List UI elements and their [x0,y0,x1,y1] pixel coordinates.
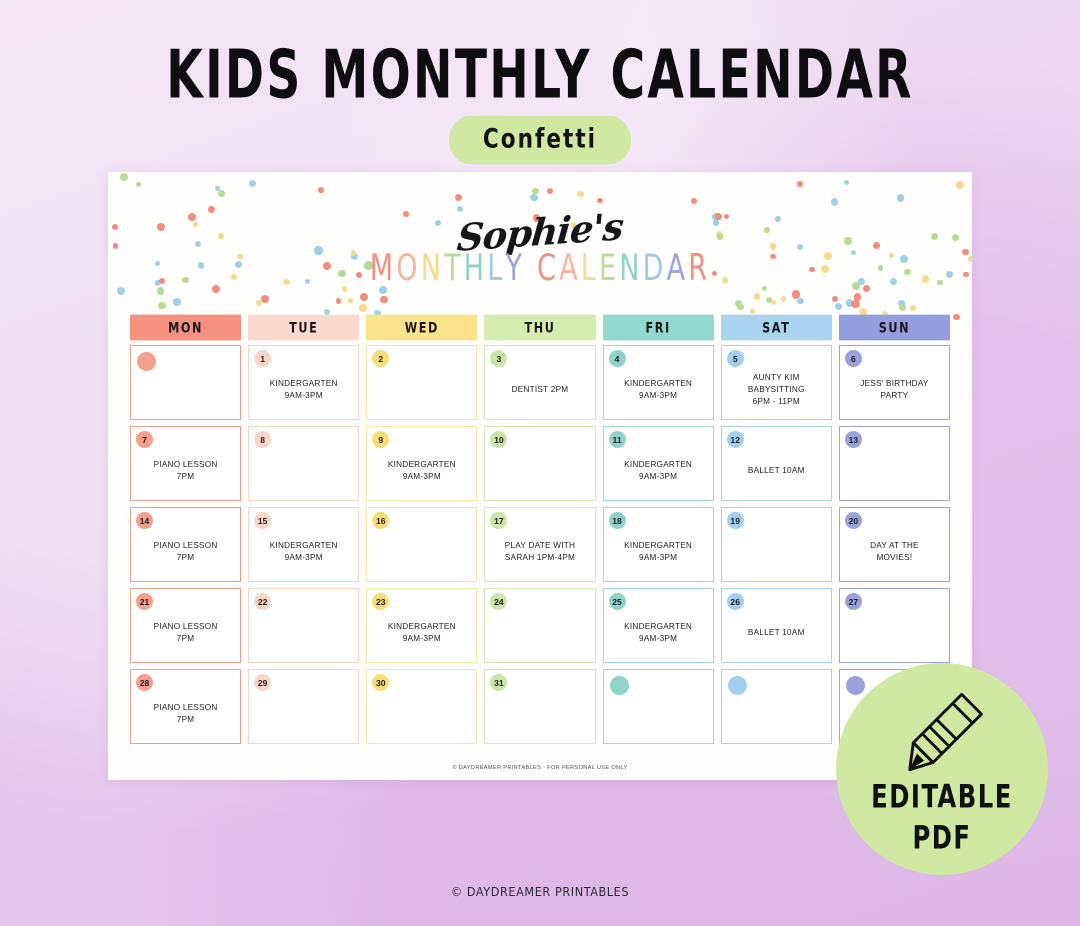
day-header-thu: THU [484,315,595,341]
day-number-chip: 3 [490,350,507,367]
wordmark-letter: T [444,251,464,288]
wordmark-letter: C [537,251,559,288]
subtitle-badge: Confetti [449,116,631,164]
wordmark-letter: O [396,251,420,288]
day-number-chip: 30 [372,674,389,691]
card-header: Sophie's MONTHLY CALENDAR [108,172,972,314]
day-cell[interactable] [130,345,241,420]
day-number-chip: 8 [254,431,271,448]
day-number-chip: 21 [136,593,153,610]
day-event-text[interactable]: KINDERGARTEN9AM-3PM [388,459,456,483]
day-event-text[interactable]: BALLET 10AM [748,627,805,639]
day-cell[interactable]: 30 [366,669,477,744]
day-number-chip: 7 [136,431,153,448]
week-row: 14PIANO LESSON7PM15KINDERGARTEN9AM-3PM16… [108,507,972,582]
headline-area: KIDS MONTHLY CALENDAR Confetti [0,42,1080,162]
wordmark-letter: A [559,251,581,288]
day-cell[interactable]: 18KINDERGARTEN9AM-3PM [603,507,714,582]
day-event-text[interactable]: AUNTY KIMBABYSITTING6PM - 11PM [748,372,805,408]
day-event-text[interactable]: BALLET 10AM [748,465,805,477]
day-event-text[interactable]: KINDERGARTEN9AM-3PM [624,540,692,564]
day-cell[interactable]: 7PIANO LESSON7PM [130,426,241,501]
day-number-chip: 19 [727,512,744,529]
bottom-credit: © DAYDREAMER PRINTABLES [0,884,1080,899]
day-cell[interactable]: 13 [839,426,950,501]
day-event-text[interactable]: KINDERGARTEN9AM-3PM [624,621,692,645]
day-event-text[interactable]: PIANO LESSON7PM [154,540,218,564]
day-event-text[interactable]: PIANO LESSON7PM [154,459,218,483]
week-row: 21PIANO LESSON7PM2223KINDERGARTEN9AM-3PM… [108,588,972,663]
day-number-chip: 16 [372,512,389,529]
day-event-text[interactable]: KINDERGARTEN9AM-3PM [624,459,692,483]
day-cell[interactable]: 29 [248,669,359,744]
calendar-card: Sophie's MONTHLY CALENDAR MONTUEWEDTHUFR… [108,172,972,780]
day-number-chip: 25 [609,593,626,610]
day-header-mon: MON [130,315,241,341]
day-number-chip: 28 [136,674,153,691]
day-header-fri: FRI [603,315,714,341]
day-number-chip: 4 [609,350,626,367]
pencil-icon [896,689,988,775]
day-number-chip [728,676,747,695]
day-event-text[interactable]: PIANO LESSON7PM [154,702,218,726]
wordmark-letter: D [643,251,667,288]
day-number-chip: 6 [845,350,862,367]
wordmark-letter: L [581,251,599,288]
wordmark-letter: E [599,251,619,288]
day-number-chip: 31 [490,674,507,691]
day-cell[interactable]: 28PIANO LESSON7PM [130,669,241,744]
day-event-text[interactable]: DAY AT THEMOVIES! [870,540,919,564]
day-cell[interactable]: 5AUNTY KIMBABYSITTING6PM - 11PM [721,345,832,420]
day-cell[interactable]: 25KINDERGARTEN9AM-3PM [603,588,714,663]
day-cell[interactable]: 19 [721,507,832,582]
editable-pdf-badge: EDITABLE PDF [836,663,1048,875]
wordmark-letter: H [464,251,488,288]
wordmark-letter: A [667,251,689,288]
day-number-chip [846,676,865,695]
day-cell[interactable]: 22 [248,588,359,663]
day-event-text[interactable]: KINDERGARTEN9AM-3PM [270,540,338,564]
day-number-chip: 24 [490,593,507,610]
day-number-chip: 13 [845,431,862,448]
day-event-text[interactable]: PLAY DATE WITHSARAH 1PM-4PM [505,540,575,564]
day-header-tue: TUE [248,315,359,341]
day-event-text[interactable]: DENTIST 2PM [512,384,569,396]
wordmark-letter: Y [506,251,526,288]
day-header-row: MONTUEWEDTHUFRISATSUN [108,316,972,339]
day-cell[interactable]: 24 [484,588,595,663]
day-cell[interactable]: 17PLAY DATE WITHSARAH 1PM-4PM [484,507,595,582]
badge-line-1: EDITABLE [871,778,1013,819]
day-number-chip: 5 [727,350,744,367]
day-number-chip: 23 [372,593,389,610]
day-event-text[interactable]: KINDERGARTEN9AM-3PM [270,378,338,402]
day-number-chip: 26 [727,593,744,610]
day-cell[interactable] [603,669,714,744]
calendar-wordmark: MONTHLY CALENDAR [108,251,972,288]
day-cell[interactable]: 27 [839,588,950,663]
wordmark-letter: N [421,251,444,288]
day-number-chip: 20 [845,512,862,529]
week-row: 7PIANO LESSON7PM89KINDERGARTEN9AM-3PM101… [108,426,972,501]
day-number-chip: 12 [727,431,744,448]
day-cell[interactable]: 8 [248,426,359,501]
day-event-text[interactable]: KINDERGARTEN9AM-3PM [388,621,456,645]
day-header-sun: SUN [839,315,950,341]
week-row: 1KINDERGARTEN9AM-3PM23DENTIST 2PM4KINDER… [108,345,972,420]
day-cell[interactable]: 20DAY AT THEMOVIES! [839,507,950,582]
day-number-chip: 22 [254,593,271,610]
day-cell[interactable]: 12BALLET 10AM [721,426,832,501]
day-number-chip: 18 [609,512,626,529]
day-cell[interactable] [721,669,832,744]
day-number-chip: 15 [254,512,271,529]
wordmark-letter [525,251,537,288]
day-header-wed: WED [366,315,477,341]
wordmark-letter: N [619,251,642,288]
day-cell[interactable]: 14PIANO LESSON7PM [130,507,241,582]
day-cell[interactable]: 31 [484,669,595,744]
day-number-chip: 27 [845,593,862,610]
day-number-chip [610,676,629,695]
day-cell[interactable]: 11KINDERGARTEN9AM-3PM [603,426,714,501]
day-number-chip: 1 [254,350,271,367]
day-event-text[interactable]: KINDERGARTEN9AM-3PM [624,378,692,402]
day-cell[interactable]: 21PIANO LESSON7PM [130,588,241,663]
day-number-chip: 2 [372,350,389,367]
day-number-chip [137,352,156,371]
day-event-text[interactable]: JESS' BIRTHDAYPARTY [860,378,928,402]
day-cell[interactable]: 4KINDERGARTEN9AM-3PM [603,345,714,420]
day-cell[interactable]: 3DENTIST 2PM [484,345,595,420]
weeks-container: 1KINDERGARTEN9AM-3PM23DENTIST 2PM4KINDER… [108,345,972,744]
day-cell[interactable]: 10 [484,426,595,501]
day-cell[interactable]: 23KINDERGARTEN9AM-3PM [366,588,477,663]
day-number-chip: 9 [372,431,389,448]
day-cell[interactable]: 2 [366,345,477,420]
day-number-chip: 14 [136,512,153,529]
page-title: KIDS MONTHLY CALENDAR [43,42,1037,109]
day-cell[interactable]: 16 [366,507,477,582]
day-cell[interactable]: 6JESS' BIRTHDAYPARTY [839,345,950,420]
badge-line-2: PDF [912,818,971,859]
wordmark-letter: M [370,251,397,288]
day-header-sat: SAT [721,315,832,341]
day-number-chip: 10 [490,431,507,448]
day-cell[interactable]: 9KINDERGARTEN9AM-3PM [366,426,477,501]
day-number-chip: 11 [609,431,626,448]
day-cell[interactable]: 26BALLET 10AM [721,588,832,663]
wordmark-letter: L [487,251,505,288]
wordmark-letter: R [688,251,710,288]
day-event-text[interactable]: PIANO LESSON7PM [154,621,218,645]
day-cell[interactable]: 1KINDERGARTEN9AM-3PM [248,345,359,420]
day-number-chip: 29 [254,674,271,691]
day-cell[interactable]: 15KINDERGARTEN9AM-3PM [248,507,359,582]
day-number-chip: 17 [490,512,507,529]
